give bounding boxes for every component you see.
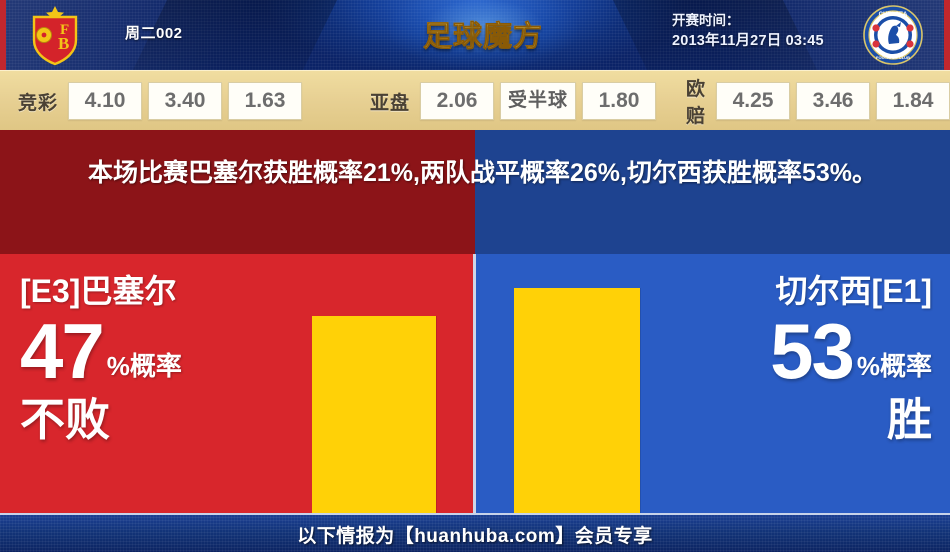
euro-odds-draw[interactable]: 3.46 bbox=[796, 82, 870, 120]
svg-text:B: B bbox=[58, 34, 69, 53]
home-percent-suffix: %概率 bbox=[107, 350, 182, 390]
home-percent-row: 47 %概率 bbox=[20, 312, 300, 390]
euro-odds-away-win[interactable]: 1.84 bbox=[876, 82, 950, 120]
away-percent-suffix: %概率 bbox=[857, 350, 932, 390]
euro-odds-home-win[interactable]: 4.25 bbox=[716, 82, 790, 120]
away-team-block: 切尔西[E1] 53 %概率 胜 bbox=[642, 272, 932, 446]
odds-group-label: 亚盘 bbox=[370, 88, 410, 115]
home-verdict: 不败 bbox=[20, 394, 300, 446]
away-team-crest-icon: CHELSEA FOOTBALL CLUB bbox=[862, 4, 924, 66]
header-right-accent bbox=[944, 0, 950, 70]
match-preview-card: F B 周二002 足球魔方 开赛时间： 2013年11月27日 03:45 bbox=[0, 0, 950, 552]
away-percent-row: 53 %概率 bbox=[642, 312, 932, 390]
footer-bar: 以下情报为【huanhuba.com】会员专享 bbox=[0, 513, 950, 552]
match-number: 周二002 bbox=[125, 22, 183, 43]
header-left-accent bbox=[0, 0, 6, 70]
bar-away-probability bbox=[514, 288, 640, 513]
odds-group-european: 欧赔 4.25 3.46 1.84 bbox=[686, 71, 950, 131]
chart-divider bbox=[473, 254, 476, 513]
odds-group-label: 竞彩 bbox=[18, 88, 58, 115]
away-verdict: 胜 bbox=[642, 394, 932, 446]
odds-value-away-win[interactable]: 1.63 bbox=[228, 82, 302, 120]
header-bar: F B 周二002 足球魔方 开赛时间： 2013年11月27日 03:45 bbox=[0, 0, 950, 70]
odds-value-home-win[interactable]: 4.10 bbox=[68, 82, 142, 120]
odds-value-draw[interactable]: 3.40 bbox=[148, 82, 222, 120]
kickoff-label: 开赛时间： bbox=[672, 11, 824, 31]
brand-logo-text: 足球魔方 bbox=[423, 13, 543, 55]
handicap-value-away[interactable]: 1.80 bbox=[582, 82, 656, 120]
away-team-name: 切尔西[E1] bbox=[642, 272, 932, 310]
odds-group-asian-handicap: 亚盘 2.06 受半球 1.80 bbox=[370, 71, 662, 131]
footer-text: 以下情报为【huanhuba.com】会员专享 bbox=[297, 521, 653, 548]
svg-text:CHELSEA: CHELSEA bbox=[879, 12, 908, 18]
away-percent-value: 53 bbox=[770, 312, 853, 390]
odds-group-label: 欧赔 bbox=[686, 74, 706, 128]
kickoff-info: 开赛时间： 2013年11月27日 03:45 bbox=[672, 11, 824, 51]
summary-band: 本场比赛巴塞尔获胜概率21%,两队战平概率26%,切尔西获胜概率53%。 bbox=[0, 130, 950, 254]
summary-text: 本场比赛巴塞尔获胜概率21%,两队战平概率26%,切尔西获胜概率53%。 bbox=[88, 154, 878, 193]
svg-text:FOOTBALL CLUB: FOOTBALL CLUB bbox=[876, 55, 910, 60]
home-percent-value: 47 bbox=[20, 312, 103, 390]
kickoff-datetime: 2013年11月27日 03:45 bbox=[672, 31, 824, 51]
home-team-block: [E3]巴塞尔 47 %概率 不败 bbox=[20, 272, 300, 446]
odds-group-jingcai: 竞彩 4.10 3.40 1.63 bbox=[18, 71, 308, 131]
handicap-value-home[interactable]: 2.06 bbox=[420, 82, 494, 120]
bar-home-probability bbox=[312, 316, 436, 513]
brand-logo: 足球魔方 bbox=[418, 12, 548, 56]
odds-bar: 竞彩 4.10 3.40 1.63 亚盘 2.06 受半球 1.80 欧赔 4.… bbox=[0, 70, 950, 132]
home-team-crest-icon: F B bbox=[24, 4, 86, 66]
home-team-name: [E3]巴塞尔 bbox=[20, 272, 300, 310]
handicap-line[interactable]: 受半球 bbox=[500, 82, 576, 120]
probability-chart: [E3]巴塞尔 47 %概率 不败 切尔西[E1] 53 %概率 胜 bbox=[0, 254, 950, 513]
